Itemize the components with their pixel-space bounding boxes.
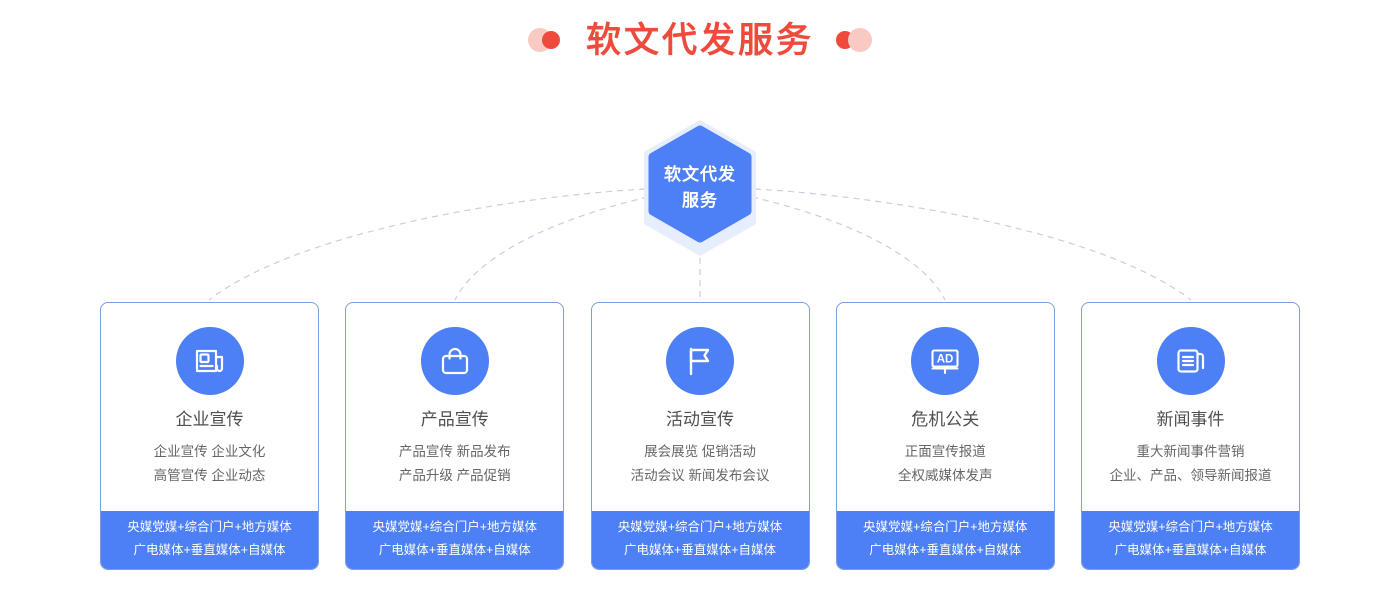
footer-line: 央媒党媒+综合门户+地方媒体 <box>346 516 563 539</box>
card-title: 新闻事件 <box>1157 411 1225 428</box>
footer-line: 央媒党媒+综合门户+地方媒体 <box>837 516 1054 539</box>
connector-to-card-4 <box>752 197 945 300</box>
connector-to-card-5 <box>755 189 1191 300</box>
footer-line: 广电媒体+垂直媒体+自媒体 <box>101 539 318 562</box>
dot-pair-icon-left <box>520 27 572 53</box>
footer-line: 央媒党媒+综合门户+地方媒体 <box>101 516 318 539</box>
card-enterprise-promotion[interactable]: 企业宣传 企业宣传 企业文化 高管宣传 企业动态 央媒党媒+综合门户+地方媒体 … <box>100 302 319 570</box>
ad-billboard-icon: AD <box>911 327 979 395</box>
connector-to-card-1 <box>209 189 645 300</box>
card-line: 全权威媒体发声 <box>837 464 1054 488</box>
card-title: 企业宣传 <box>176 411 244 428</box>
page-title: 软文代发服务 <box>586 23 814 58</box>
shopping-bag-icon <box>421 327 489 395</box>
card-line: 正面宣传报道 <box>837 440 1054 464</box>
card-event-promotion[interactable]: 活动宣传 展会展览 促销活动 活动会议 新闻发布会议 央媒党媒+综合门户+地方媒… <box>591 302 810 570</box>
footer-line: 广电媒体+垂直媒体+自媒体 <box>592 539 809 562</box>
card-line: 企业宣传 企业文化 <box>101 440 318 464</box>
documents-icon <box>1157 327 1225 395</box>
card-title: 危机公关 <box>911 411 979 428</box>
card-lines: 重大新闻事件营销 企业、产品、领导新闻报道 <box>1082 440 1299 488</box>
card-footer: 央媒党媒+综合门户+地方媒体 广电媒体+垂直媒体+自媒体 <box>1082 511 1299 569</box>
newspaper-icon <box>176 327 244 395</box>
dot-light-icon <box>848 28 872 52</box>
cards-row: 企业宣传 企业宣传 企业文化 高管宣传 企业动态 央媒党媒+综合门户+地方媒体 … <box>100 302 1300 570</box>
card-line: 企业、产品、领导新闻报道 <box>1082 464 1299 488</box>
card-product-promotion[interactable]: 产品宣传 产品宣传 新品发布 产品升级 产品促销 央媒党媒+综合门户+地方媒体 … <box>345 302 564 570</box>
card-line: 高管宣传 企业动态 <box>101 464 318 488</box>
card-title: 活动宣传 <box>666 411 734 428</box>
card-line: 活动会议 新闻发布会议 <box>592 464 809 488</box>
card-crisis-pr[interactable]: AD 危机公关 正面宣传报道 全权威媒体发声 央媒党媒+综合门户+地方媒体 广电… <box>836 302 1055 570</box>
dot-pair-icon-right <box>828 27 880 53</box>
card-lines: 展会展览 促销活动 活动会议 新闻发布会议 <box>592 440 809 488</box>
hub-label-line-2: 服务 <box>682 188 718 214</box>
footer-line: 央媒党媒+综合门户+地方媒体 <box>592 516 809 539</box>
card-line: 产品宣传 新品发布 <box>346 440 563 464</box>
card-lines: 企业宣传 企业文化 高管宣传 企业动态 <box>101 440 318 488</box>
connector-to-card-2 <box>455 197 648 300</box>
footer-line: 广电媒体+垂直媒体+自媒体 <box>837 539 1054 562</box>
card-footer: 央媒党媒+综合门户+地方媒体 广电媒体+垂直媒体+自媒体 <box>592 511 809 569</box>
card-lines: 正面宣传报道 全权威媒体发声 <box>837 440 1054 488</box>
flag-icon <box>666 327 734 395</box>
page-header: 软文代发服务 <box>0 0 1400 80</box>
footer-line: 广电媒体+垂直媒体+自媒体 <box>1082 539 1299 562</box>
hub-label: 软文代发 服务 <box>638 118 762 258</box>
card-footer: 央媒党媒+综合门户+地方媒体 广电媒体+垂直媒体+自媒体 <box>101 511 318 569</box>
card-footer: 央媒党媒+综合门户+地方媒体 广电媒体+垂直媒体+自媒体 <box>346 511 563 569</box>
card-news-event[interactable]: 新闻事件 重大新闻事件营销 企业、产品、领导新闻报道 央媒党媒+综合门户+地方媒… <box>1081 302 1300 570</box>
dot-accent-icon <box>542 31 560 49</box>
svg-text:AD: AD <box>937 354 954 366</box>
footer-line: 央媒党媒+综合门户+地方媒体 <box>1082 516 1299 539</box>
card-line: 重大新闻事件营销 <box>1082 440 1299 464</box>
footer-line: 广电媒体+垂直媒体+自媒体 <box>346 539 563 562</box>
card-line: 展会展览 促销活动 <box>592 440 809 464</box>
hub-label-line-1: 软文代发 <box>664 162 736 188</box>
center-hub: 软文代发 服务 <box>638 118 762 258</box>
card-line: 产品升级 产品促销 <box>346 464 563 488</box>
card-footer: 央媒党媒+综合门户+地方媒体 广电媒体+垂直媒体+自媒体 <box>837 511 1054 569</box>
card-title: 产品宣传 <box>421 411 489 428</box>
card-lines: 产品宣传 新品发布 产品升级 产品促销 <box>346 440 563 488</box>
